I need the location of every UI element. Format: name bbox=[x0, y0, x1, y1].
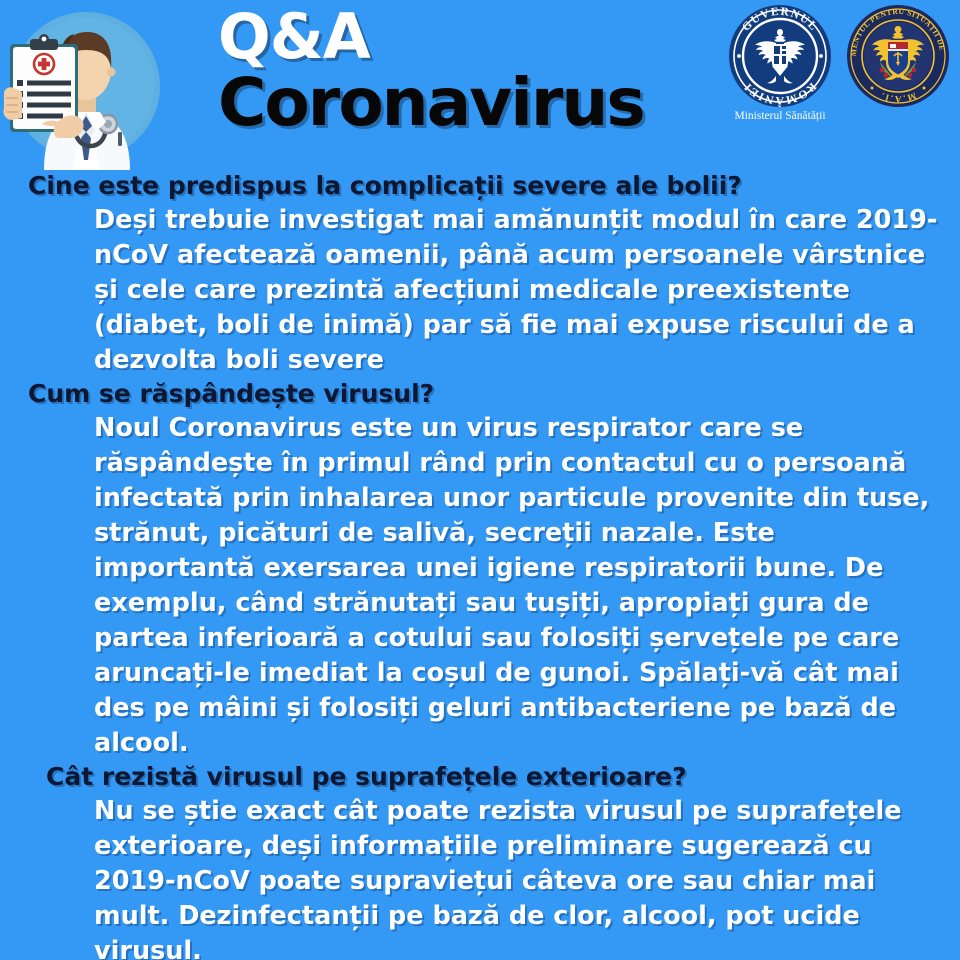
answer-2: Noul Coronavirus este un virus respirato… bbox=[28, 411, 942, 761]
poster-header: Q&A Coronavirus GUVERNUL bbox=[0, 0, 960, 170]
question-2: Cum se răspândește virusul? bbox=[28, 378, 942, 409]
answer-1: Deși trebuie investigat mai amănunțit mo… bbox=[28, 203, 942, 378]
poster-root: Q&A Coronavirus GUVERNUL bbox=[0, 0, 960, 960]
logo-group: GUVERNUL ROMÂNIEI bbox=[722, 4, 954, 122]
guvernul-romaniei-logo: GUVERNUL ROMÂNIEI bbox=[722, 4, 838, 122]
qa-item-2: Cum se răspândește virusul? Noul Coronav… bbox=[28, 378, 942, 761]
dsu-mai-logo: DEPARTAMENTUL PENTRU SITUAȚII DE URGENȚĂ… bbox=[846, 4, 954, 113]
qa-item-3: Cât rezistă virusul pe suprafețele exter… bbox=[28, 761, 942, 960]
qa-content: Cine este predispus la complicații sever… bbox=[0, 170, 960, 960]
guvernul-romaniei-caption: Ministerul Sănătății bbox=[734, 110, 825, 122]
guvernul-romaniei-seal-icon: GUVERNUL ROMÂNIEI bbox=[728, 4, 832, 108]
answer-3: Nu se știe exact cât poate rezista virus… bbox=[28, 794, 942, 960]
dsu-mai-seal-icon: DEPARTAMENTUL PENTRU SITUAȚII DE URGENȚĂ… bbox=[846, 4, 950, 108]
title-block: Q&A Coronavirus bbox=[218, 2, 718, 138]
title-qa: Q&A bbox=[218, 2, 718, 68]
qa-item-1: Cine este predispus la complicații sever… bbox=[28, 170, 942, 378]
doctor-illustration bbox=[2, 8, 170, 170]
title-coronavirus: Coronavirus bbox=[218, 68, 718, 138]
question-3: Cât rezistă virusul pe suprafețele exter… bbox=[28, 761, 942, 792]
question-1: Cine este predispus la complicații sever… bbox=[28, 170, 942, 201]
